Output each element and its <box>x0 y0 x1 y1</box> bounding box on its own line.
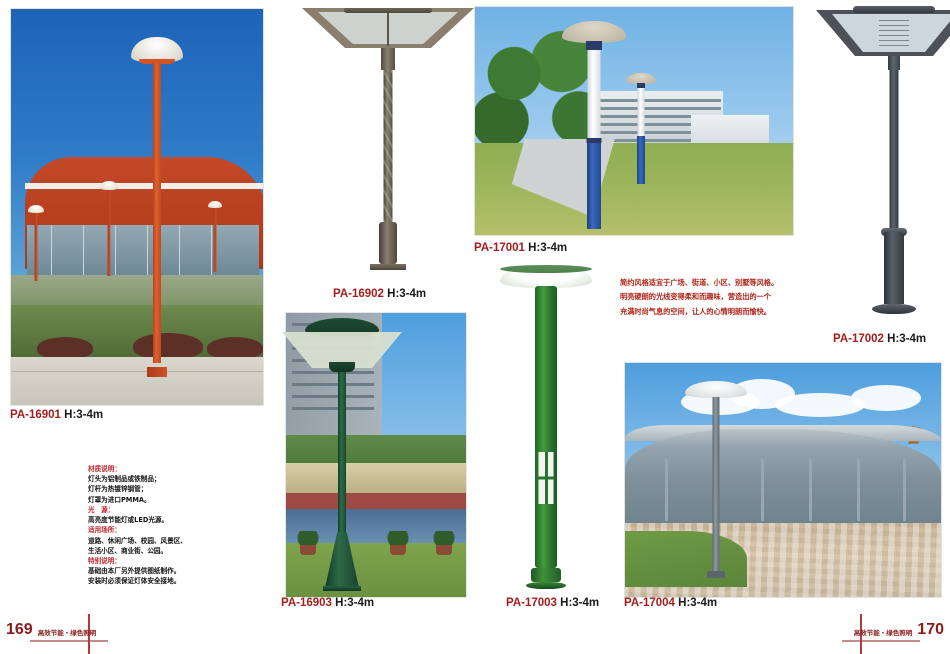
lamp-neck <box>888 56 900 70</box>
product-code: PA-17003 <box>506 597 557 609</box>
footer-right: 高效节能・绿色照明 170 <box>854 622 944 638</box>
lamp-shade <box>685 381 747 398</box>
spec-material-line: 灯头为铝制品或铁制品； <box>88 474 238 484</box>
footer-rule-right <box>842 640 920 642</box>
spec-usage-line: 道路、休闲广场、校园、风景区、 <box>88 536 238 546</box>
lamp-shade <box>562 21 626 43</box>
lamp-shade <box>131 37 183 63</box>
lamp-base-plate <box>370 264 406 270</box>
lamp-window-panel <box>539 452 554 504</box>
footer-rule-left <box>30 640 108 642</box>
product-code: PA-17002 <box>833 333 884 345</box>
spec-source-heading: 光 源： <box>88 505 238 515</box>
description-line: 明亮硬朗的光线变得柔和而趣味，营造出的一个 <box>620 290 830 304</box>
product-height: H:3-4m <box>678 597 717 609</box>
lamp-pa-16902 <box>340 8 436 280</box>
lamp-shade-rim <box>329 362 355 372</box>
product-height: H:3-4m <box>560 597 599 609</box>
lamp-shade-ridge <box>387 10 389 46</box>
product-label-pa-16903: PA-16903 H:3-4m <box>281 597 374 609</box>
lamp-pole <box>384 70 393 222</box>
lamp-shade-rim <box>344 8 432 13</box>
spec-usage-heading: 适用场所： <box>88 525 238 535</box>
description-line: 简约风格适宜于广场、街道、小区、别墅等风格。 <box>620 276 830 290</box>
product-label-pa-17003: PA-17003 H:3-4m <box>506 597 599 609</box>
lamp-shade-edge <box>500 265 592 273</box>
lamp-pole <box>713 397 720 573</box>
lamp-pa-17001-rear <box>619 73 663 185</box>
product-code: PA-16902 <box>333 288 384 300</box>
background-lamp <box>99 181 119 277</box>
lamp-shade-rim <box>853 6 935 13</box>
lamp-collar <box>586 41 602 50</box>
footer-tagline: 高效节能・绿色照明 <box>38 627 97 638</box>
spec-source-line: 高亮度节能灯或LED光源。 <box>88 515 238 525</box>
product-height: H:3-4m <box>64 409 103 421</box>
lamp-pole <box>535 286 557 568</box>
product-label-pa-17004: PA-17004 H:3-4m <box>624 597 717 609</box>
lamp-foot <box>884 232 904 304</box>
page-number-right: 170 <box>917 622 944 638</box>
lamp-pole-lower <box>587 143 601 229</box>
lamp-pa-16903 <box>296 318 388 592</box>
planter <box>390 543 406 555</box>
product-photo-pa-16901 <box>10 8 264 406</box>
background-lamp <box>27 205 45 281</box>
terminal-building <box>625 429 941 533</box>
product-code: PA-16903 <box>281 597 332 609</box>
product-label-pa-16901: PA-16901 H:3-4m <box>10 409 103 421</box>
product-height: H:3-4m <box>387 288 426 300</box>
shrub <box>207 337 263 359</box>
cloud <box>851 385 921 411</box>
lamp-shade-louvers <box>879 20 909 46</box>
lamp-base-plate <box>526 582 566 589</box>
lamp-foot <box>531 568 561 582</box>
lamp-pole-upper <box>638 88 645 136</box>
product-code: PA-17001 <box>474 242 525 254</box>
lamp-neck <box>381 48 395 70</box>
lamp-pole <box>890 70 899 232</box>
planter <box>436 543 452 555</box>
background-lamp <box>207 201 223 273</box>
product-photo-pa-17004: 南沙客 <box>624 362 942 598</box>
product-height: H:3-4m <box>335 597 374 609</box>
specifications-block: 材质说明： 灯头为铝制品或铁制品； 灯杆为热镀锌钢管； 灯罩为进口PMMA。 光… <box>88 464 238 587</box>
footer-left: 169 高效节能・绿色照明 <box>6 622 96 638</box>
lamp-pole <box>153 63 161 363</box>
product-label-pa-17002: PA-17002 H:3-4m <box>833 333 926 345</box>
product-label-pa-17001: PA-17001 H:3-4m <box>474 242 567 254</box>
lamp-base <box>147 367 167 377</box>
lamp-foot <box>379 222 397 264</box>
product-height: H:3-4m <box>887 333 926 345</box>
spec-material-line: 灯罩为进口PMMA。 <box>88 495 238 505</box>
spec-note-line: 安装时必须保证灯体安全接地。 <box>88 576 238 586</box>
spec-material-line: 灯杆为热镀锌钢管； <box>88 484 238 494</box>
spec-note-line: 基础由本厂另外提供图纸制作。 <box>88 566 238 576</box>
lamp-pa-17003 <box>496 264 596 594</box>
product-code: PA-16901 <box>10 409 61 421</box>
lamp-pole-upper <box>588 50 601 138</box>
product-code: PA-17004 <box>624 597 675 609</box>
spec-usage-line: 生活小区、商业街、公园。 <box>88 546 238 556</box>
description-block: 简约风格适宜于广场、街道、小区、别墅等风格。 明亮硬朗的光线变得柔和而趣味，营造… <box>620 276 830 319</box>
catalog-page: PA-16901 H:3-4m PA-16902 H:3-4m <box>0 0 950 654</box>
shrub <box>37 337 93 359</box>
lamp-flared-base <box>325 532 359 588</box>
lamp-pa-16901 <box>129 37 185 377</box>
lamp-base <box>707 571 725 578</box>
page-number-left: 169 <box>6 622 33 638</box>
lamp-pa-17002 <box>846 6 942 328</box>
spec-note-heading: 特别说明： <box>88 556 238 566</box>
lamp-pa-17004 <box>681 381 751 581</box>
description-line: 充满时尚气息的空间，让人的心情明朗而愉快。 <box>620 305 830 319</box>
spec-material-heading: 材质说明： <box>88 464 238 474</box>
lamp-base-plate <box>872 304 916 314</box>
lamp-pole-lower <box>637 136 645 184</box>
lamp-base-plate <box>323 586 361 591</box>
product-label-pa-16902: PA-16902 H:3-4m <box>333 288 426 300</box>
product-photo-pa-17001 <box>474 6 794 236</box>
footer-tagline: 高效节能・绿色照明 <box>854 627 913 638</box>
product-height: H:3-4m <box>528 242 567 254</box>
lamp-pole <box>338 372 346 534</box>
